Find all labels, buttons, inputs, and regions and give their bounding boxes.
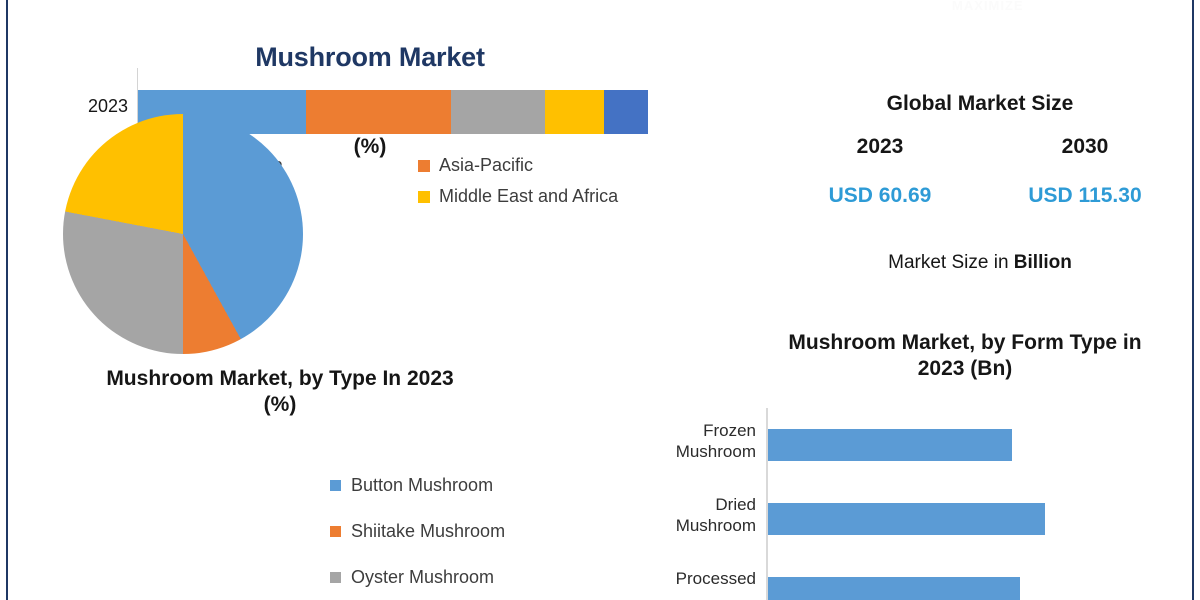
- market-size-units-prefix: Market Size in: [888, 252, 1014, 273]
- market-size-units-note: Market Size in Billion: [760, 252, 1200, 274]
- legend-label: Middle East and Africa: [439, 186, 618, 207]
- form-bar-processed-mushroom[interactable]: [768, 577, 1020, 600]
- market-size-year-2023: 2023: [785, 136, 975, 157]
- infographic-poster: MAXIMIZE Mushroom Market Mushroom Market…: [0, 0, 1200, 600]
- form-bar-dried-mushroom[interactable]: [768, 503, 1045, 535]
- form-row-frozen-mushroom: Frozen Mushroom: [610, 420, 1170, 494]
- type-pie-chart[interactable]: [63, 114, 303, 354]
- type-chart-title-line2: (%): [20, 392, 540, 418]
- form-bar-frozen-mushroom[interactable]: [768, 429, 1012, 461]
- global-market-size-title: Global Market Size: [760, 92, 1200, 116]
- form-chart-title-line2: 2023 (Bn): [740, 356, 1190, 382]
- legend-label: Shiitake Mushroom: [351, 521, 505, 542]
- legend-swatch-icon: [330, 526, 341, 537]
- form-category-label-frozen: Frozen Mushroom: [610, 420, 756, 463]
- watermark-text: MAXIMIZE: [952, 0, 1024, 13]
- form-category-line1: Frozen: [610, 420, 756, 441]
- form-category-line1: Processed: [610, 568, 756, 589]
- global-market-size-panel: Global Market Size 2023 USD 60.69 2030 U…: [760, 92, 1200, 292]
- form-chart-title-line1: Mushroom Market, by Form Type in: [740, 330, 1190, 356]
- legend-item-button-mushroom[interactable]: Button Mushroom: [330, 462, 600, 508]
- market-size-value-2030: USD 115.30: [990, 185, 1180, 206]
- type-chart-title: Mushroom Market, by Type In 2023 (%): [20, 366, 540, 417]
- type-share-chart: Mushroom Market, by Type In 2023 (%) But…: [0, 358, 600, 600]
- market-size-column-2030: 2030 USD 115.30: [990, 136, 1180, 206]
- type-chart-title-line1: Mushroom Market, by Type In 2023: [20, 366, 540, 392]
- page-title: Mushroom Market: [160, 42, 580, 73]
- form-category-label-processed: Processed: [610, 568, 756, 589]
- form-category-label-dried: Dried Mushroom: [610, 494, 756, 537]
- region-category-label: 2023: [48, 96, 128, 117]
- region-segment-asia-pacific[interactable]: [306, 90, 451, 134]
- region-segment-south-america[interactable]: [604, 90, 648, 134]
- legend-item-asia-pacific[interactable]: Asia-Pacific: [418, 150, 688, 181]
- legend-item-middle-east-and-africa[interactable]: Middle East and Africa: [418, 181, 688, 212]
- legend-item-oyster-mushroom[interactable]: Oyster Mushroom: [330, 554, 600, 600]
- form-row-dried-mushroom: Dried Mushroom: [610, 494, 1170, 568]
- form-chart-title: Mushroom Market, by Form Type in 2023 (B…: [740, 330, 1190, 381]
- market-size-units-bold: Billion: [1014, 252, 1072, 273]
- legend-item-shiitake-mushroom[interactable]: Shiitake Mushroom: [330, 508, 600, 554]
- form-category-line2: Mushroom: [610, 441, 756, 462]
- legend-swatch-icon: [418, 191, 430, 203]
- market-size-year-2030: 2030: [990, 136, 1180, 157]
- form-category-line2: Mushroom: [610, 515, 756, 536]
- type-chart-legend: Button Mushroom Shiitake Mushroom Oyster…: [330, 462, 600, 600]
- legend-label: Asia-Pacific: [439, 155, 533, 176]
- form-row-processed-mushroom: Processed: [610, 568, 1170, 600]
- legend-label: Button Mushroom: [351, 475, 493, 496]
- legend-swatch-icon: [330, 480, 341, 491]
- form-category-line1: Dried: [610, 494, 756, 515]
- region-segment-middle-east-africa[interactable]: [545, 90, 603, 134]
- legend-swatch-icon: [418, 160, 430, 172]
- region-segment-europe[interactable]: [451, 90, 545, 134]
- market-size-column-2023: 2023 USD 60.69: [785, 136, 975, 206]
- legend-label: Oyster Mushroom: [351, 567, 494, 588]
- legend-swatch-icon: [330, 572, 341, 583]
- market-size-value-2023: USD 60.69: [785, 185, 975, 206]
